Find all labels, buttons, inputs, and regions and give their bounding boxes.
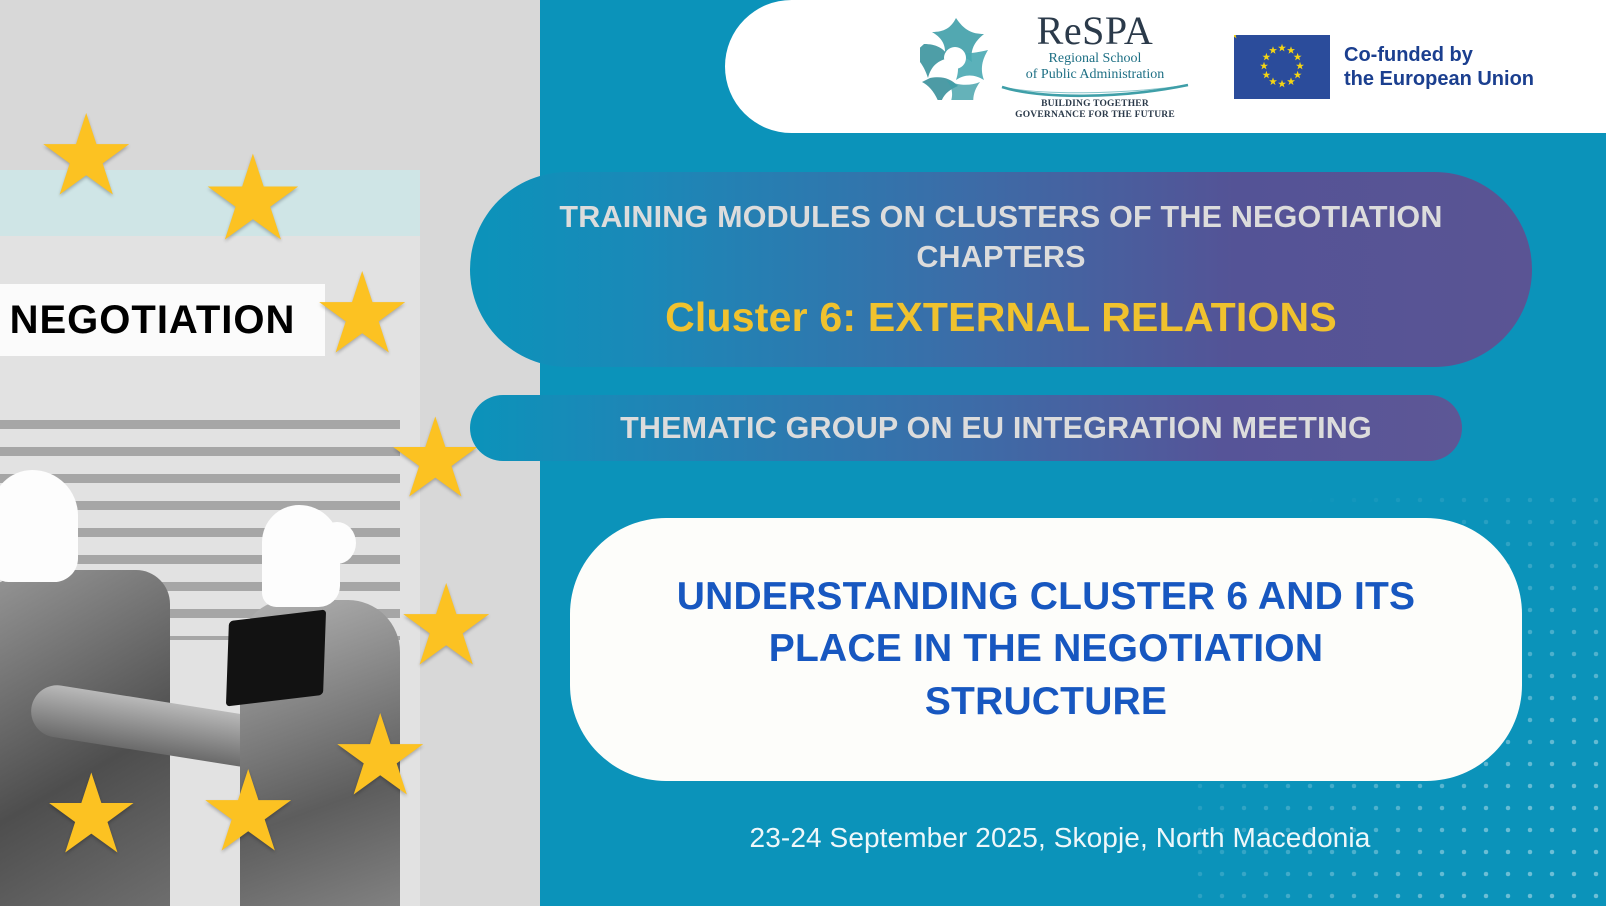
cluster-label: Cluster 6:	[665, 294, 856, 340]
training-modules-heading: TRAINING MODULES ON CLUSTERS OF THE NEGO…	[531, 198, 1471, 277]
session-title-text: UNDERSTANDING CLUSTER 6 AND ITS PLACE IN…	[646, 571, 1446, 729]
title-banner: TRAINING MODULES ON CLUSTERS OF THE NEGO…	[470, 172, 1532, 367]
eu-star-icon: ★	[198, 756, 298, 868]
respa-tagline-line2: GOVERNANCE FOR THE FUTURE	[1015, 110, 1175, 121]
event-date-location: 23-24 September 2025, Skopje, North Mace…	[560, 822, 1560, 854]
eu-star-icon: ★	[312, 258, 412, 370]
eu-star-icon: ★	[200, 140, 306, 258]
eu-star-icon: ★	[36, 100, 136, 212]
respa-star-icon	[920, 16, 992, 100]
respa-tagline-line1: BUILDING TOGETHER	[1015, 99, 1175, 110]
presentation-slide: NEGOTIATION ★ ★ ★ ★ ★ ★ ★ ★	[0, 0, 1606, 906]
session-title-card: UNDERSTANDING CLUSTER 6 AND ITS PLACE IN…	[570, 518, 1522, 781]
eu-flag-icon	[1234, 35, 1330, 99]
thematic-group-label: THEMATIC GROUP ON EU INTEGRATION MEETING	[560, 411, 1372, 446]
eu-star-icon: ★	[396, 570, 496, 682]
eu-cofunded-logo: Co-funded by the European Union	[1234, 35, 1534, 99]
eu-text-line1: Co-funded by	[1344, 43, 1534, 67]
respa-swoosh-icon	[1000, 83, 1190, 99]
eu-text-line2: the European Union	[1344, 67, 1534, 91]
cluster-value: EXTERNAL RELATIONS	[868, 294, 1337, 340]
respa-subtitle-line2: of Public Administration	[1026, 67, 1164, 83]
cluster-heading: Cluster 6: EXTERNAL RELATIONS	[665, 294, 1337, 341]
thematic-group-banner: THEMATIC GROUP ON EU INTEGRATION MEETING	[470, 395, 1462, 461]
eu-star-icon: ★	[42, 760, 141, 870]
eu-star-icon: ★	[330, 700, 430, 812]
logo-header-bar: ReSPA Regional School of Public Administ…	[725, 0, 1606, 133]
respa-wordmark: ReSPA	[1037, 12, 1154, 50]
respa-subtitle-line1: Regional School	[1026, 51, 1164, 67]
collage-image: NEGOTIATION ★ ★ ★ ★ ★ ★ ★ ★	[0, 0, 540, 906]
respa-logo: ReSPA Regional School of Public Administ…	[920, 12, 1190, 121]
